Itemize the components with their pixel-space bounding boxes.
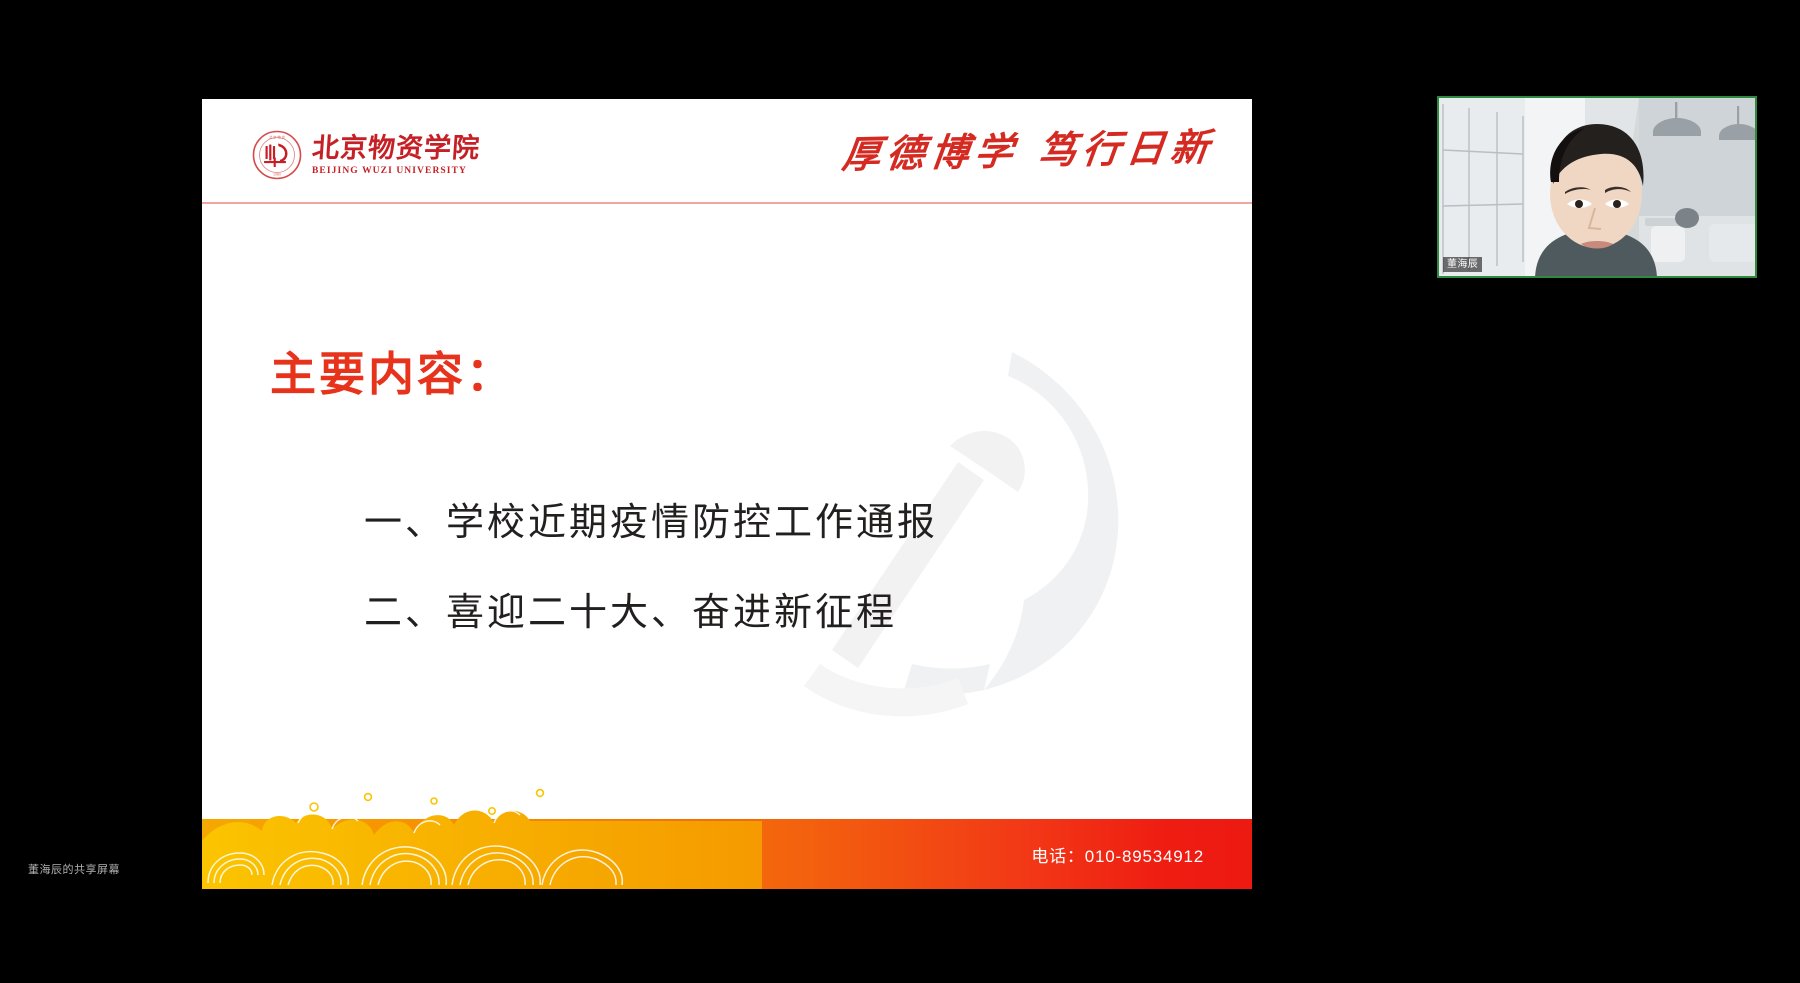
slide-title: 主要内容： [270,347,515,401]
slide-footer: 电话：010-89534912 [202,779,1252,889]
logo-name-cn: 北京物资学院 [311,134,481,164]
wave-decoration-icon [202,779,762,889]
university-motto: 厚德博学 笃行日新 [839,121,1217,181]
agenda-item-1: 一、学校近期疫情防控工作通报 [364,499,938,545]
svg-text:1980: 1980 [273,173,281,177]
slide-canvas: 北 京 物 资 1980 北京物资学院 BEIJING WUZI UNIVERS… [202,99,1252,889]
participant-video-tile[interactable]: 董海辰 [1437,96,1757,278]
header-divider [202,202,1252,204]
slide-header: 北 京 物 资 1980 北京物资学院 BEIJING WUZI UNIVERS… [202,99,1252,203]
contact-phone: 电话：010-89534912 [1031,842,1204,867]
share-screen-label: 董海辰的共享屏幕 [28,863,120,877]
video-stream [1439,98,1755,276]
shared-slide[interactable]: 北 京 物 资 1980 北京物资学院 BEIJING WUZI UNIVERS… [202,99,1252,889]
logo-text: 北京物资学院 BEIJING WUZI UNIVERSITY [312,134,480,177]
screen-share-view: 董海辰的共享屏幕 [0,0,1800,983]
university-seal-icon: 北 京 物 资 1980 [252,130,302,180]
participant-name-badge: 董海辰 [1443,257,1482,272]
svg-text:北 京 物 资: 北 京 物 资 [269,135,286,140]
agenda-item-2: 二、喜迎二十大、奋进新征程 [364,589,897,635]
university-logo: 北 京 物 资 1980 北京物资学院 BEIJING WUZI UNIVERS… [252,130,480,180]
logo-name-en: BEIJING WUZI UNIVERSITY [312,165,480,177]
